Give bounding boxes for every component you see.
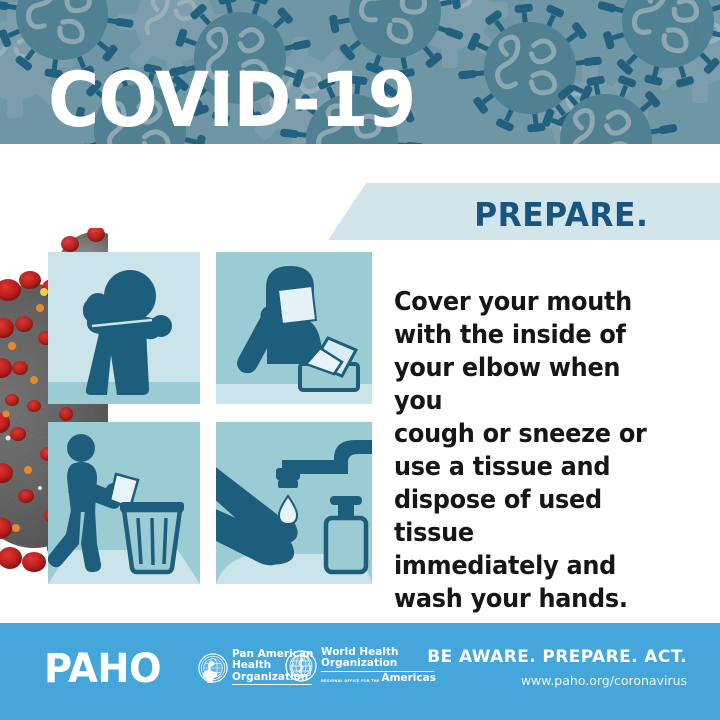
instruction-line: dispose of used tissue <box>394 484 676 550</box>
who-logo-text: World Health Organization REGIONAL OFFIC… <box>321 647 436 684</box>
who-emblem-icon <box>285 650 317 682</box>
who-logo-line2: Organization <box>321 658 436 669</box>
who-region-name: Americas <box>381 673 436 684</box>
instruction-line: with the inside of <box>394 319 676 352</box>
dispose-tissue-icon <box>48 422 200 584</box>
instruction-line: your elbow when you <box>394 352 676 418</box>
header-band: COVID-19 <box>0 0 720 144</box>
instruction-line: Cover your mouth <box>394 286 676 319</box>
who-region-row: REGIONAL OFFICE FOR THE Americas <box>321 673 436 684</box>
instruction-line: cough or sneeze or <box>394 418 676 451</box>
footer-bar: PAHO <box>0 623 720 720</box>
paho-globe-seal-icon <box>198 653 228 683</box>
cough-into-elbow-icon <box>48 252 200 404</box>
who-logo-block: World Health Organization REGIONAL OFFIC… <box>285 647 436 684</box>
wash-hands-icon <box>216 422 372 584</box>
instruction-line: immediately and <box>394 550 676 583</box>
paho-wordmark: PAHO <box>44 646 161 692</box>
instruction-line: wash your hands. <box>394 583 676 616</box>
poster-canvas: COVID-19 PREPARE. <box>0 0 720 720</box>
footer-url[interactable]: www.paho.org/coronavirus <box>521 673 687 688</box>
cough-into-tissue-icon <box>216 252 372 404</box>
prepare-label: PREPARE. <box>474 195 648 234</box>
page-title: COVID-19 <box>48 62 415 138</box>
who-regional-label: REGIONAL OFFICE FOR THE <box>321 679 379 684</box>
instruction-line: use a tissue and <box>394 451 676 484</box>
instruction-text: Cover your mouth with the inside of your… <box>394 286 676 616</box>
paho-logo-underline <box>232 684 312 685</box>
footer-slogan: BE AWARE. PREPARE. ACT. <box>427 647 687 667</box>
